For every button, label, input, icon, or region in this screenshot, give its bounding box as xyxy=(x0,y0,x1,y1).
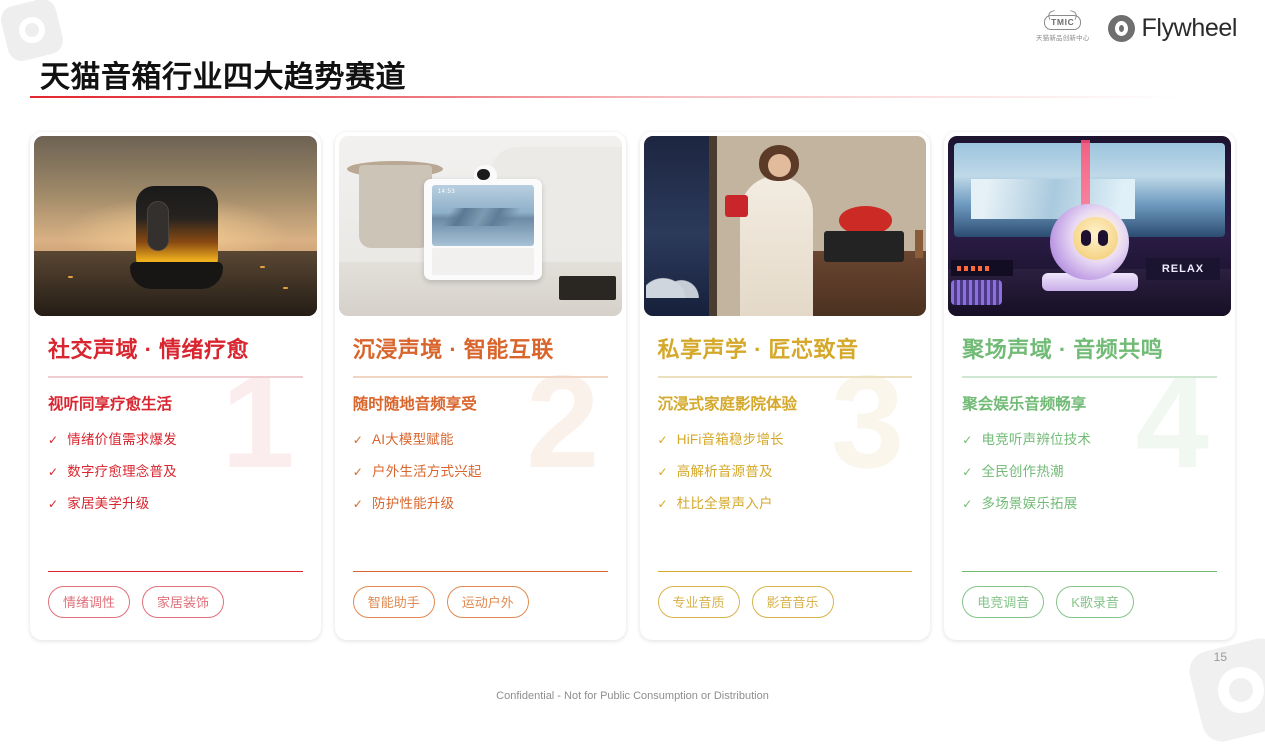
list-item: ✓电竞听声辨位技术 xyxy=(962,428,1217,448)
flywheel-logo: Flywheel xyxy=(1108,14,1237,43)
scene-desert-speaker xyxy=(34,136,317,316)
bullet-text: 户外生活方式兴起 xyxy=(372,460,482,480)
tmic-subtitle: 天猫新品创新中心 xyxy=(1036,32,1090,42)
title-underline xyxy=(30,96,1230,98)
page-number: 15 xyxy=(1214,650,1227,664)
bullet-text: 家居美学升级 xyxy=(67,492,149,512)
card-bullet-list: ✓AI大模型赋能 ✓户外生活方式兴起 ✓防护性能升级 xyxy=(353,428,608,524)
card-bullet-list: ✓电竞听声辨位技术 ✓全民创作热潮 ✓多场景娱乐拓展 xyxy=(962,428,1217,524)
display-clock: 14:53 xyxy=(438,189,456,195)
card-tag-group: 专业音质 影音音乐 xyxy=(658,572,913,618)
card-body: 2 沉浸声境 · 智能互联 随时随地音频享受 ✓AI大模型赋能 ✓户外生活方式兴… xyxy=(335,316,626,640)
check-icon: ✓ xyxy=(962,433,972,447)
card-body: 4 聚场声域 · 音频共鸣 聚会娱乐音频畅享 ✓电竞听声辨位技术 ✓全民创作热潮… xyxy=(944,316,1235,640)
scene-smart-display: 14:53 xyxy=(339,136,622,316)
trend-card[interactable]: 14:53 2 沉浸声境 · 智能互联 随时随地音频享受 ✓AI大模型赋能 ✓户… xyxy=(335,132,626,640)
trend-card[interactable]: 3 私享声学 · 匠芯致音 沉浸式家庭影院体验 ✓HiFi音箱稳步增长 ✓高解析… xyxy=(640,132,931,640)
card-body: 3 私享声学 · 匠芯致音 沉浸式家庭影院体验 ✓HiFi音箱稳步增长 ✓高解析… xyxy=(640,316,931,640)
tmic-logo: TMIC 天猫新品创新中心 xyxy=(1036,15,1090,42)
check-icon: ✓ xyxy=(658,497,668,511)
check-icon: ✓ xyxy=(48,433,58,447)
list-item: ✓多场景娱乐拓展 xyxy=(962,492,1217,512)
flywheel-mark-icon xyxy=(1108,15,1135,42)
brand-bar: TMIC 天猫新品创新中心 Flywheel xyxy=(1036,14,1237,43)
card-title-divider xyxy=(353,376,608,378)
tag-pill[interactable]: 运动户外 xyxy=(447,586,529,618)
list-item: ✓杜比全景声入户 xyxy=(658,492,913,512)
list-item: ✓HiFi音箱稳步增长 xyxy=(658,428,913,448)
tag-pill[interactable]: 智能助手 xyxy=(353,586,435,618)
check-icon: ✓ xyxy=(353,465,363,479)
list-item: ✓AI大模型赋能 xyxy=(353,428,608,448)
trend-card[interactable]: RELAX 4 聚场声域 · 音频共鸣 聚会娱乐音频畅享 ✓电竞听声辨位技术 ✓… xyxy=(944,132,1235,640)
card-title: 私享声学 · 匠芯致音 xyxy=(658,332,913,364)
bullet-text: 防护性能升级 xyxy=(372,492,454,512)
tmic-badge-text: TMIC xyxy=(1044,15,1081,30)
list-item: ✓数字疗愈理念普及 xyxy=(48,460,303,480)
check-icon: ✓ xyxy=(962,497,972,511)
bullet-text: 全民创作热潮 xyxy=(982,460,1064,480)
card-tag-group: 情绪调性 家居装饰 xyxy=(48,572,303,618)
bullet-text: AI大模型赋能 xyxy=(372,428,454,448)
watermark-ring-icon xyxy=(16,14,48,46)
card-tag-group: 电竞调音 K歌录音 xyxy=(962,572,1217,618)
bullet-text: 情绪价值需求爆发 xyxy=(67,428,177,448)
page-title: 天猫音箱行业四大趋势赛道 xyxy=(40,52,406,96)
check-icon: ✓ xyxy=(353,497,363,511)
card-title-divider xyxy=(962,376,1217,378)
card-image xyxy=(34,136,317,316)
card-title-divider xyxy=(658,376,913,378)
tag-pill[interactable]: K歌录音 xyxy=(1056,586,1134,618)
card-body: 1 社交声域 · 情绪疗愈 视听同享疗愈生活 ✓情绪价值需求爆发 ✓数字疗愈理念… xyxy=(30,316,321,640)
card-image: RELAX xyxy=(948,136,1231,316)
card-subtitle: 沉浸式家庭影院体验 xyxy=(658,392,913,414)
tag-pill[interactable]: 电竞调音 xyxy=(962,586,1044,618)
card-subtitle: 随时随地音频享受 xyxy=(353,392,608,414)
bullet-text: HiFi音箱稳步增长 xyxy=(677,428,784,448)
tag-pill[interactable]: 专业音质 xyxy=(658,586,740,618)
card-bullet-list: ✓情绪价值需求爆发 ✓数字疗愈理念普及 ✓家居美学升级 xyxy=(48,428,303,524)
trend-cards-row: 1 社交声域 · 情绪疗愈 视听同享疗愈生活 ✓情绪价值需求爆发 ✓数字疗愈理念… xyxy=(30,132,1235,640)
bullet-text: 电竞听声辨位技术 xyxy=(982,428,1092,448)
tag-pill[interactable]: 影音音乐 xyxy=(752,586,834,618)
card-subtitle: 聚会娱乐音频畅享 xyxy=(962,392,1217,414)
check-icon: ✓ xyxy=(353,433,363,447)
flywheel-wordmark: Flywheel xyxy=(1142,14,1237,43)
check-icon: ✓ xyxy=(658,465,668,479)
relax-sign: RELAX xyxy=(1146,258,1220,280)
card-image xyxy=(644,136,927,316)
tag-pill[interactable]: 家居装饰 xyxy=(142,586,224,618)
list-item: ✓家居美学升级 xyxy=(48,492,303,512)
list-item: ✓高解析音源普及 xyxy=(658,460,913,480)
confidentiality-note: Confidential - Not for Public Consumptio… xyxy=(0,690,1265,702)
tag-pill[interactable]: 情绪调性 xyxy=(48,586,130,618)
card-title: 聚场声域 · 音频共鸣 xyxy=(962,332,1217,364)
check-icon: ✓ xyxy=(658,433,668,447)
card-title: 社交声域 · 情绪疗愈 xyxy=(48,332,303,364)
bullet-text: 多场景娱乐拓展 xyxy=(982,492,1078,512)
bullet-text: 高解析音源普及 xyxy=(677,460,773,480)
card-image: 14:53 xyxy=(339,136,622,316)
trend-card[interactable]: 1 社交声域 · 情绪疗愈 视听同享疗愈生活 ✓情绪价值需求爆发 ✓数字疗愈理念… xyxy=(30,132,321,640)
card-title: 沉浸声境 · 智能互联 xyxy=(353,332,608,364)
card-tag-group: 智能助手 运动户外 xyxy=(353,572,608,618)
check-icon: ✓ xyxy=(962,465,972,479)
list-item: ✓户外生活方式兴起 xyxy=(353,460,608,480)
check-icon: ✓ xyxy=(48,465,58,479)
card-subtitle: 视听同享疗愈生活 xyxy=(48,392,303,414)
list-item: ✓防护性能升级 xyxy=(353,492,608,512)
card-bullet-list: ✓HiFi音箱稳步增长 ✓高解析音源普及 ✓杜比全景声入户 xyxy=(658,428,913,524)
card-title-divider xyxy=(48,376,303,378)
scene-living-room xyxy=(644,136,927,316)
scene-gaming-setup: RELAX xyxy=(948,136,1231,316)
check-icon: ✓ xyxy=(48,497,58,511)
list-item: ✓全民创作热潮 xyxy=(962,460,1217,480)
bullet-text: 数字疗愈理念普及 xyxy=(67,460,177,480)
bullet-text: 杜比全景声入户 xyxy=(677,492,773,512)
list-item: ✓情绪价值需求爆发 xyxy=(48,428,303,448)
